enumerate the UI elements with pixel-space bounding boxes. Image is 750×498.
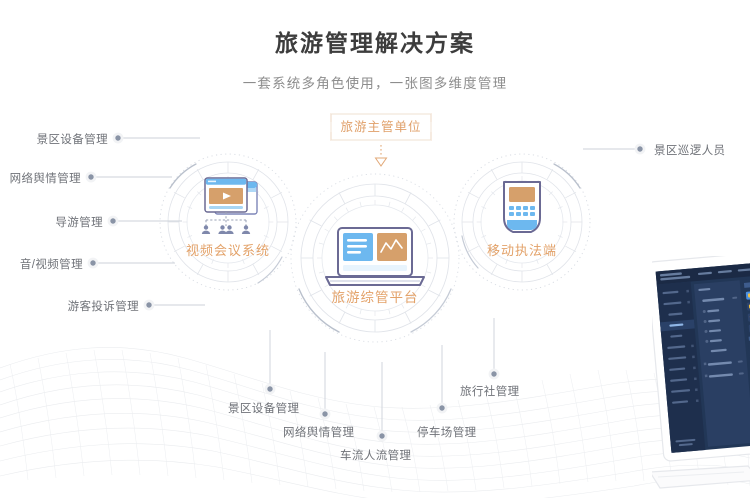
label-bottom-3: 停车场管理 [417, 424, 477, 440]
video-window-icon [202, 178, 257, 234]
label-left-1: 网络舆情管理 [10, 170, 81, 186]
infographic-canvas: 旅游管理解决方案 一套系统多角色使用，一张图多维度管理 [0, 0, 750, 498]
ring-tourism-platform [291, 174, 459, 342]
authority-label: 旅游主管单位 [331, 114, 431, 140]
label-left-3: 音/视频管理 [20, 256, 83, 272]
node-caption-mobile-enforcement: 移动执法端 [487, 240, 557, 259]
label-left-4: 游客投诉管理 [68, 298, 139, 314]
label-left-0: 景区设备管理 [37, 131, 108, 147]
label-bottom-1: 网络舆情管理 [283, 424, 354, 440]
label-bottom-0: 景区设备管理 [228, 400, 299, 416]
label-bottom-2: 车流人流管理 [340, 447, 411, 463]
background-mesh-decoration [0, 328, 750, 498]
page-subtitle: 一套系统多角色使用，一张图多维度管理 [0, 72, 750, 92]
label-left-2: 导游管理 [55, 214, 103, 230]
bottom-connectors [270, 318, 494, 432]
left-connectors [95, 138, 205, 305]
label-bottom-4: 旅行社管理 [460, 383, 520, 399]
label-right-0: 景区巡逻人员 [654, 142, 725, 158]
header: 旅游管理解决方案 一套系统多角色使用，一张图多维度管理 [0, 24, 750, 92]
laptop-chart-icon [326, 228, 424, 285]
ring-video-conference [160, 154, 296, 290]
authority-connector-arrow [376, 145, 387, 166]
ring-mobile-enforcement [454, 154, 590, 290]
node-caption-video-conference: 视频会议系统 [186, 240, 270, 259]
handheld-device-icon [504, 182, 540, 232]
right-connectors [583, 144, 645, 155]
node-caption-tourism-platform: 旅游综管平台 [332, 286, 419, 306]
laptop-mockup [652, 256, 750, 498]
page-title: 旅游管理解决方案 [0, 24, 750, 58]
